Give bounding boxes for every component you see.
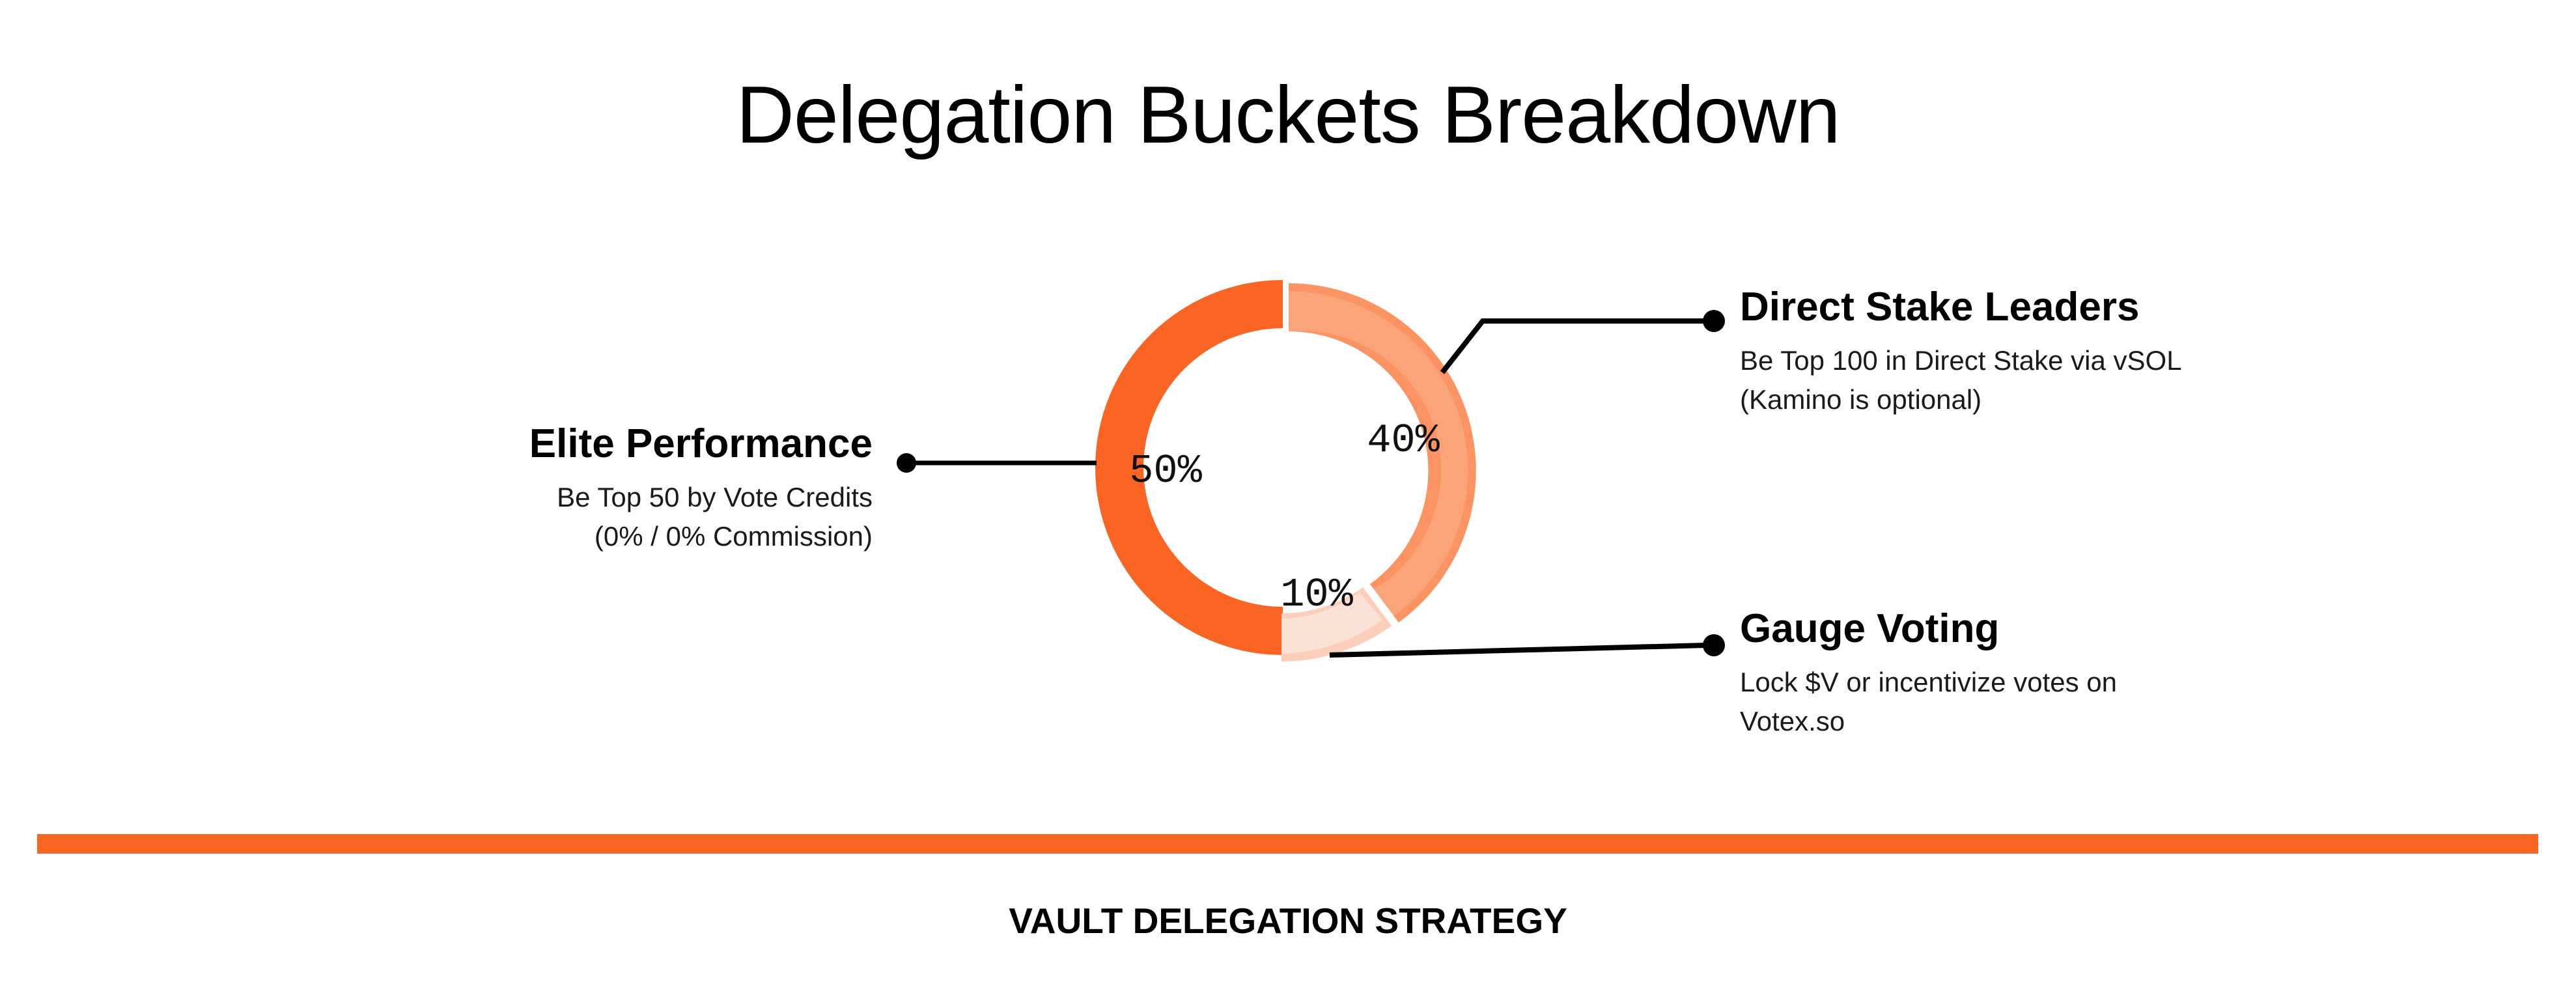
slice-percent-elite-performance: 50%: [1129, 448, 1202, 494]
callout-elite-performance: Elite Performance Be Top 50 by Vote Cred…: [365, 422, 873, 555]
callout-description-line-1: Be Top 50 by Vote Credits: [365, 478, 873, 517]
slice-percent-gauge-voting: 10%: [1280, 572, 1353, 618]
donut-hole: [1212, 397, 1353, 538]
callout-title-direct-stake-leaders: Direct Stake Leaders: [1740, 285, 2391, 329]
callout-description-elite-performance: Be Top 50 by Vote Credits (0% / 0% Commi…: [365, 478, 873, 555]
slice-gauge-voting-ring: [1281, 587, 1392, 662]
slice-elite-performance-ring: [1095, 280, 1283, 655]
footer-accent-bar: [37, 834, 2538, 854]
slice-gauge-voting[interactable]: [1281, 593, 1382, 654]
slice-elite-performance[interactable]: [1103, 288, 1283, 647]
callout-title-elite-performance: Elite Performance: [365, 422, 873, 466]
slice-percent-direct-stake-leaders: 40%: [1367, 417, 1440, 464]
slice-direct-stake-leaders-ring: [1289, 283, 1476, 622]
callout-description-line-2: (0% / 0% Commission): [365, 517, 873, 556]
footer-caption: VAULT DELEGATION STRATEGY: [0, 900, 2576, 942]
callout-direct-stake-leaders: Direct Stake Leaders Be Top 100 in Direc…: [1740, 285, 2391, 419]
page-title: Delegation Buckets Breakdown: [0, 73, 2576, 158]
slice-direct-stake-leaders[interactable]: [1289, 291, 1468, 616]
callout-description-line-1: Lock $V or incentivize votes on: [1740, 663, 2391, 702]
callout-description-line-2: Votex.so: [1740, 702, 2391, 741]
slide-canvas: Delegation Buckets Breakdown 50%: [0, 0, 2576, 991]
leader-line-direct-stake-leaders: [1442, 310, 1725, 372]
callout-description-line-1: Be Top 100 in Direct Stake via vSOL: [1740, 341, 2391, 380]
callout-description-gauge-voting: Lock $V or incentivize votes on Votex.so: [1740, 663, 2391, 740]
callout-gauge-voting: Gauge Voting Lock $V or incentivize vote…: [1740, 607, 2391, 740]
leader-line-elite-performance: [897, 453, 1097, 473]
callout-description-direct-stake-leaders: Be Top 100 in Direct Stake via vSOL (Kam…: [1740, 341, 2391, 419]
callout-description-line-2: (Kamino is optional): [1740, 380, 2391, 419]
callout-title-gauge-voting: Gauge Voting: [1740, 607, 2391, 651]
leader-line-gauge-voting: [1330, 634, 1725, 656]
